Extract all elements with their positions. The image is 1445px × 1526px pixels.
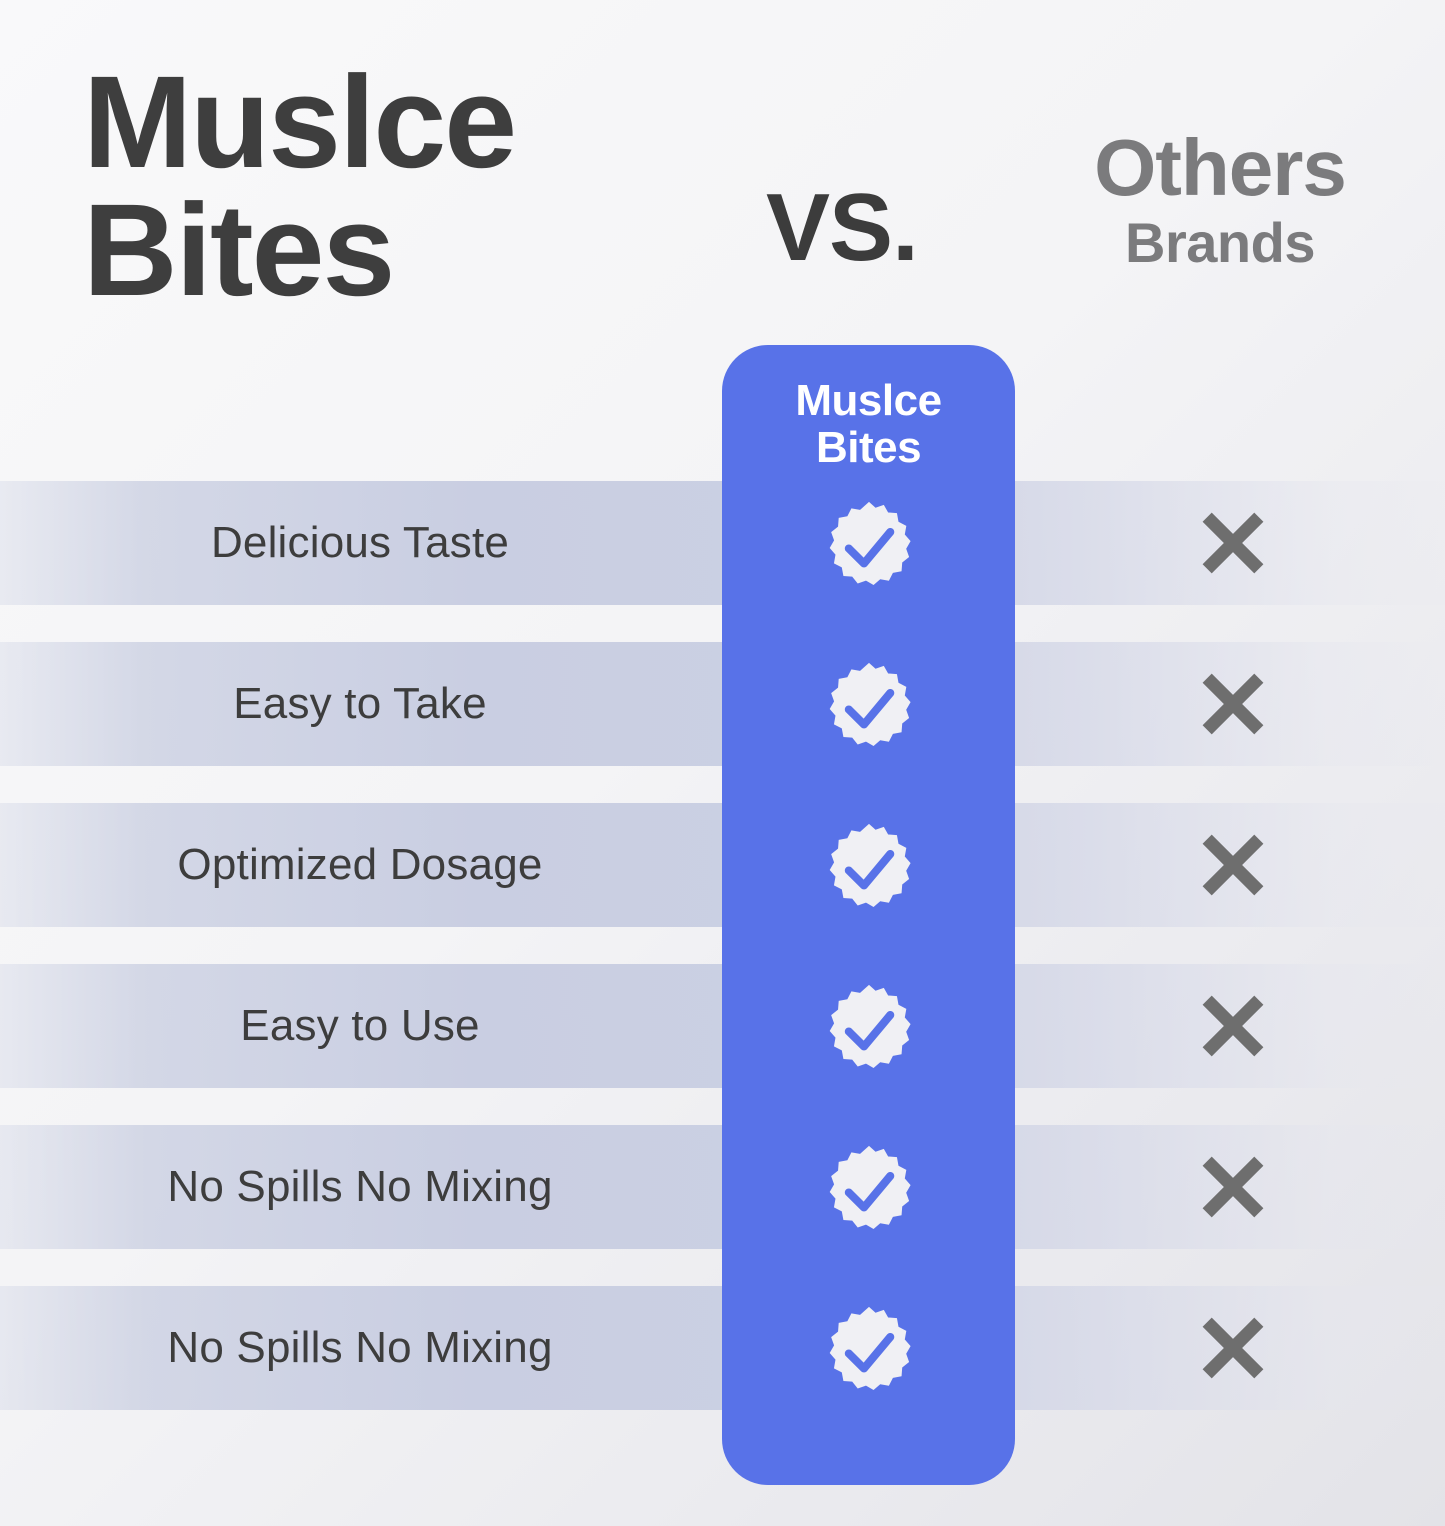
check-badge-icon bbox=[722, 1286, 1015, 1410]
feature-label: No Spills No Mixing bbox=[0, 1125, 720, 1249]
others-subtitle: Brands bbox=[1020, 208, 1420, 278]
check-badge-icon bbox=[722, 481, 1015, 605]
check-badge-icon bbox=[722, 1125, 1015, 1249]
feature-label: Delicious Taste bbox=[0, 481, 720, 605]
comparison-infographic: Muslce Bites VS. Others Brands Delicious… bbox=[0, 0, 1445, 1526]
others-title: Others bbox=[1020, 128, 1420, 208]
cross-icon bbox=[1020, 1286, 1445, 1410]
feature-label: Easy to Take bbox=[0, 642, 720, 766]
check-badge-icon bbox=[722, 803, 1015, 927]
feature-label: Easy to Use bbox=[0, 964, 720, 1088]
others-column-header: Others Brands bbox=[1020, 128, 1420, 278]
feature-label: No Spills No Mixing bbox=[0, 1286, 720, 1410]
brand-card-title: Muslce Bites bbox=[722, 378, 1015, 471]
cross-icon bbox=[1020, 803, 1445, 927]
cross-icon bbox=[1020, 481, 1445, 605]
vs-label: VS. bbox=[766, 173, 918, 283]
brand-highlight-card: Muslce Bites bbox=[722, 345, 1015, 1485]
feature-label: Optimized Dosage bbox=[0, 803, 720, 927]
brand-check-column bbox=[722, 481, 1015, 1447]
check-badge-icon bbox=[722, 642, 1015, 766]
check-badge-icon bbox=[722, 964, 1015, 1088]
cross-icon bbox=[1020, 1125, 1445, 1249]
page-title: Muslce Bites bbox=[83, 58, 703, 315]
cross-icon bbox=[1020, 642, 1445, 766]
cross-icon bbox=[1020, 964, 1445, 1088]
